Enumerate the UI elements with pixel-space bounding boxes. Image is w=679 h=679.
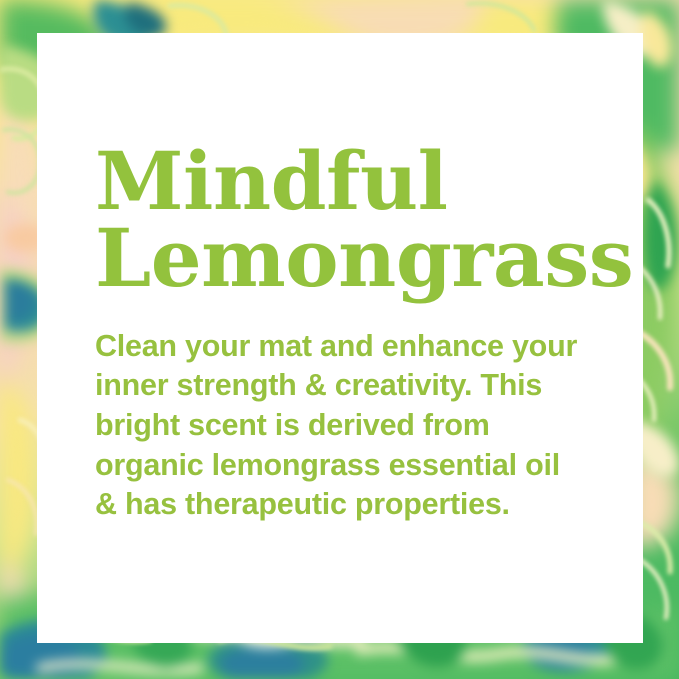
page-title: Mindful Lemongrass [95,143,607,297]
white-content-card: Mindful Lemongrass Clean your mat and en… [37,33,643,643]
card-text-block: Mindful Lemongrass Clean your mat and en… [95,143,607,525]
product-description: Clean your mat and enhance your inner st… [95,327,607,525]
product-label-card: Mindful Lemongrass Clean your mat and en… [0,0,679,679]
